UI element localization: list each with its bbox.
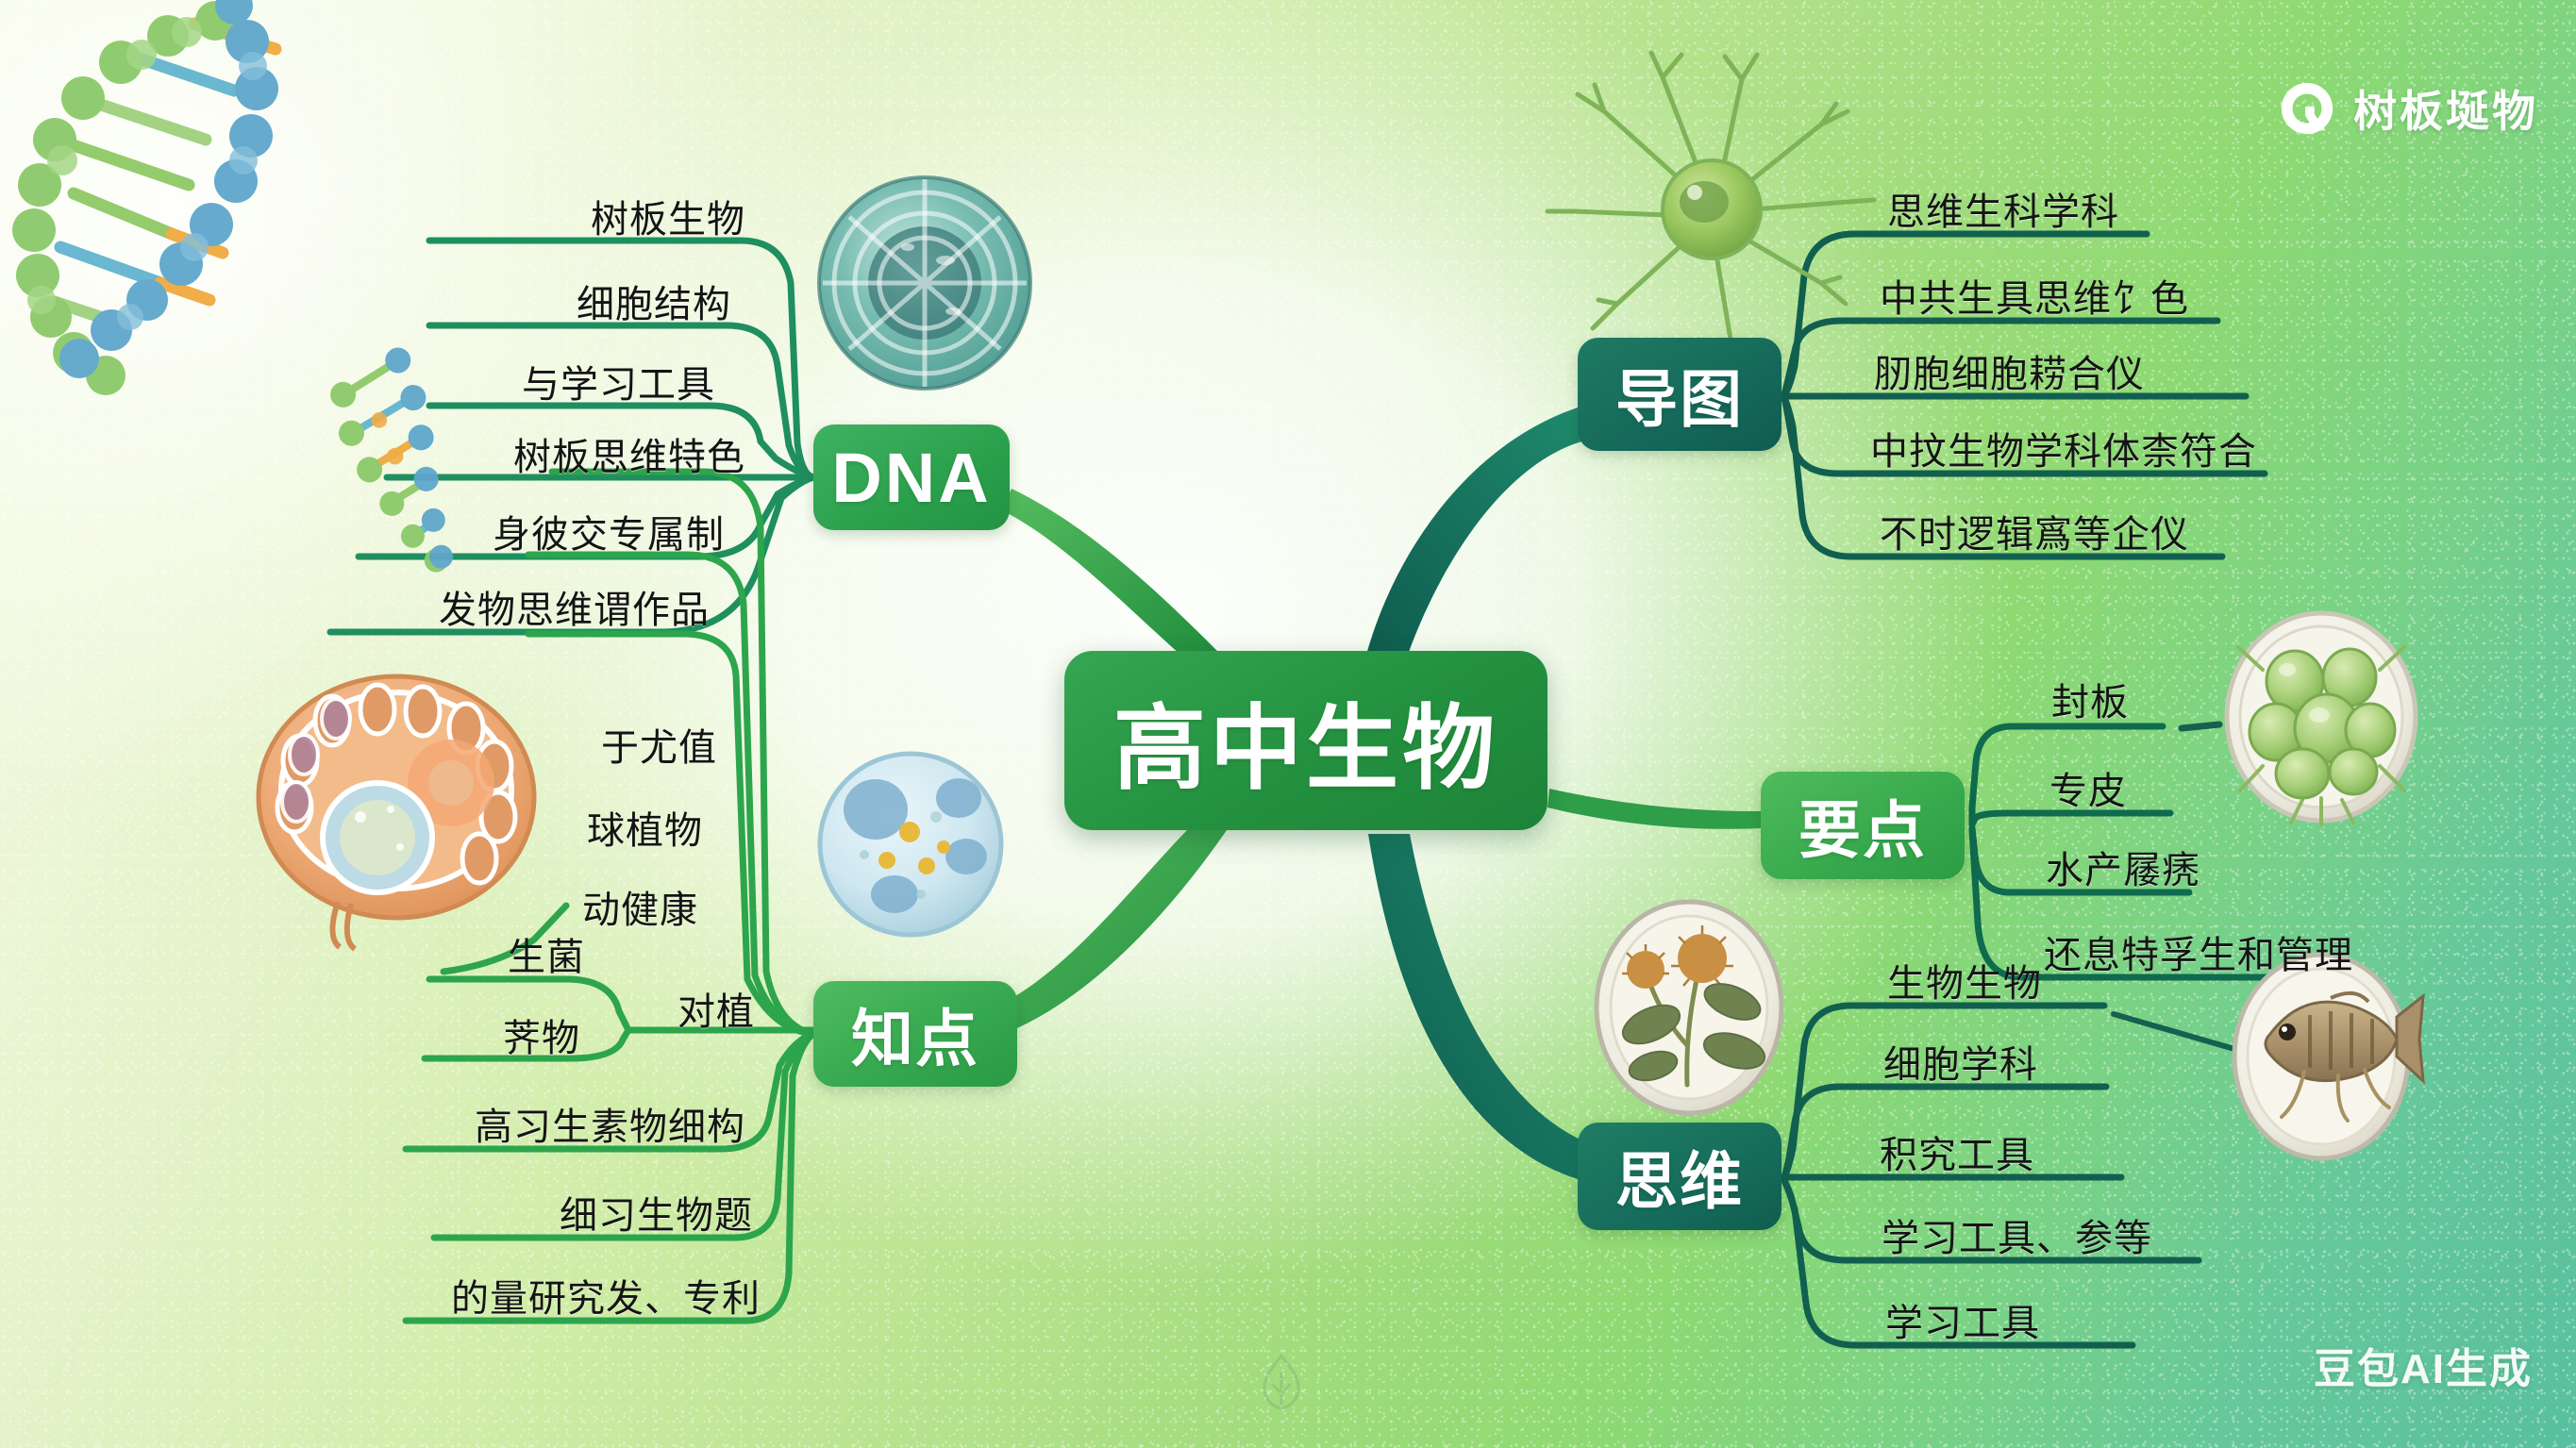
leaf-daotu-2[interactable]: 肕胞细胞耢合仪 [1874,343,2145,398]
pressed-plant-dish [1597,902,1781,1113]
leaf-yaodian-0[interactable]: 封板 [2051,672,2129,726]
blue-petri-cell [820,754,1001,935]
teal-cell-sphere [819,177,1030,389]
logo-text: 树板埏物 [2353,77,2538,140]
leaf-yaodian-2[interactable]: 水产㞜痜 [2046,840,2200,894]
branch-node-yaodian[interactable]: 要点 [1761,772,1965,879]
leaf-dna-4[interactable]: 身彼交专属制 [493,504,725,558]
leaf-zhidian-1[interactable]: 球植物 [587,800,703,855]
leaf-dna-1[interactable]: 细胞结构 [577,274,731,328]
branch-node-daotu[interactable]: 导图 [1578,338,1781,451]
green-cell-cluster-dish [2227,613,2416,824]
leaf-daotu-4[interactable]: 不时逻辑寪等企仪 [1880,504,2189,558]
leaf-zhidian-0[interactable]: 于尤值 [601,717,717,772]
dna-helix-large [12,0,278,395]
leaf-dna-0[interactable]: 树板生物 [591,189,745,243]
leaf-siwei-1[interactable]: 细胞学科 [1883,1034,2038,1089]
green-neuron-cell [1547,53,1874,370]
leaf-zhidian-2[interactable]: 动健康 [582,879,698,934]
branch-node-zhidian[interactable]: 知点 [813,981,1017,1087]
leaf-zhidian-7[interactable]: 细习生物题 [560,1185,753,1240]
leaf-yaodian-3[interactable]: 还息特孚生和管理 [2044,924,2353,979]
leaf-dna-5[interactable]: 发物思维谓作品 [439,579,710,634]
leaf-dna-2[interactable]: 与学习工具 [522,354,715,408]
ghost-mark-icon [1255,1352,1308,1412]
leaf-zhidian-6[interactable]: 高习生素物细构 [475,1096,745,1151]
ovary-follicle-cross-section [259,676,534,949]
branch-node-siwei[interactable]: 思维 [1578,1123,1781,1230]
leaf-zhidian-3[interactable]: 生菌 [508,926,585,981]
branch-node-dna[interactable]: DNA [813,424,1010,530]
brand-logo: 树板埏物 [2278,77,2538,140]
central-node[interactable]: 高中生物 [1064,651,1547,830]
leaf-siwei-2[interactable]: 积究工具 [1880,1124,2034,1179]
leaf-dna-3[interactable]: 树板思维特色 [513,426,745,481]
circle-r-logo-icon [2278,79,2336,138]
leaf-daotu-1[interactable]: 中共生具思维饣色 [1880,268,2189,323]
leaf-yaodian-1[interactable]: 专皮 [2049,760,2127,815]
leaf-zhidian-8[interactable]: 的量研究发、专利 [451,1268,761,1323]
leaf-daotu-3[interactable]: 中抆生物学科体柰符合 [1870,421,2257,475]
dna-helix-small [318,343,478,589]
leaf-siwei-3[interactable]: 学习工具、参等 [1882,1207,2152,1262]
mindmap-canvas: 高中生物 DNA 知点 导图 要点 思维 树板生物 细胞结构 与学习工具 树板思… [0,0,2576,1448]
ai-watermark: 豆包AI生成 [2314,1335,2533,1395]
leaf-daotu-0[interactable]: 思维生科学科 [1887,181,2119,236]
striped-fish-dish [2234,955,2423,1158]
leaf-siwei-0[interactable]: 生物生物 [1887,953,2042,1007]
leaf-zhidian-5[interactable]: 对植 [677,981,755,1036]
leaf-zhidian-4[interactable]: 荠物 [503,1007,580,1062]
leaf-siwei-4[interactable]: 学习工具 [1885,1292,2040,1347]
